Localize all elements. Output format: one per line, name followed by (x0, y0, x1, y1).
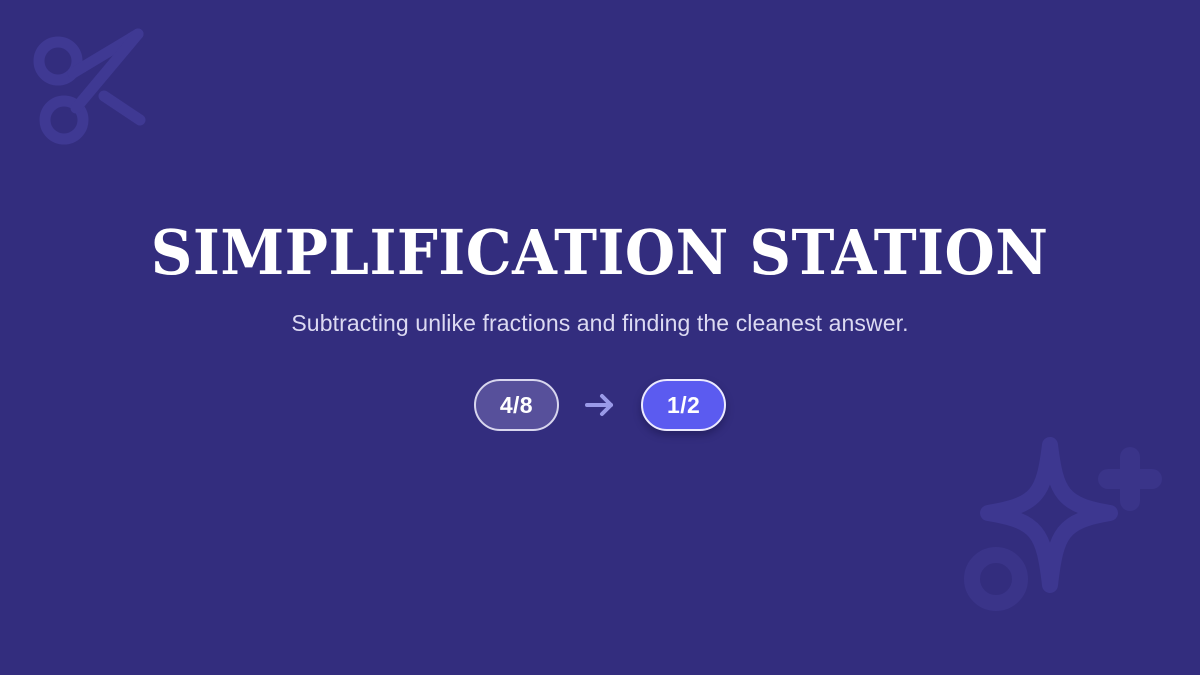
page-title: SIMPLIFICATION STATION (151, 222, 1049, 284)
chip-fraction-after: 1/2 (641, 379, 726, 431)
chip-fraction-before: 4/8 (474, 379, 559, 431)
slide-subtitle: Subtracting unlike fractions and finding… (291, 310, 908, 337)
slide-content: SIMPLIFICATION STATION Subtracting unlik… (0, 0, 1200, 675)
slide-canvas: SIMPLIFICATION STATION Subtracting unlik… (0, 0, 1200, 675)
fraction-example: 4/8 1/2 (474, 379, 726, 431)
arrow-right-icon (581, 390, 619, 420)
